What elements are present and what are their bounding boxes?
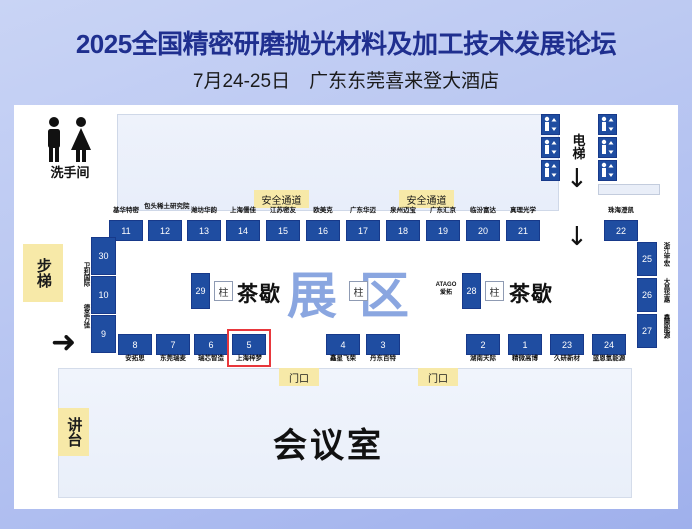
booth-9[interactable]: 9 xyxy=(91,315,116,353)
page-header: 2025全国精密研磨抛光材料及加工技术发展论坛 7月24-25日 广东东莞喜来登… xyxy=(0,0,692,100)
restroom-area: 洗手间 xyxy=(31,114,109,188)
pillar-left: 柱 xyxy=(214,281,233,301)
safety-exit-label: 安全通道 xyxy=(262,192,302,207)
page-title: 2025全国精密研磨抛光材料及加工技术发展论坛 xyxy=(0,24,692,61)
booth-label-2: 湖南天际 xyxy=(462,356,504,363)
booth-8[interactable]: 8 xyxy=(118,334,152,355)
stairs-label: 步梯 xyxy=(35,258,51,288)
booth-label-21: 真理光学 xyxy=(502,208,544,215)
booth-label-3: 丹东百特 xyxy=(362,356,404,363)
booth-label-9: 德圣万佳 xyxy=(80,304,90,328)
booth-30[interactable]: 30 xyxy=(91,237,116,275)
booth-12[interactable]: 12 xyxy=(148,220,182,241)
booth-label-5: 上海梓梦 xyxy=(228,356,270,363)
booth-label-13: 潍坊华韵 xyxy=(183,208,225,215)
booth-1[interactable]: 1 xyxy=(508,334,542,355)
booth-26[interactable]: 26 xyxy=(637,278,657,312)
entrance-label: 门口 xyxy=(428,370,448,385)
booth-15[interactable]: 15 xyxy=(266,220,300,241)
booth-27[interactable]: 27 xyxy=(637,314,657,348)
booth-label-19: 广东汇京 xyxy=(422,208,464,215)
booth-5[interactable]: 5 xyxy=(232,334,266,355)
booth-10[interactable]: 10 xyxy=(91,276,116,314)
break-area-right: 茶歇 xyxy=(509,278,553,308)
booth-13[interactable]: 13 xyxy=(187,220,221,241)
entrance-right: 门口 xyxy=(418,368,458,386)
floor-plan: 洗手间 安全通道 安全通道 电梯 xyxy=(14,105,678,509)
restroom-icon xyxy=(40,116,98,167)
booth-label-18: 泉州迈宝 xyxy=(382,208,424,215)
booth-4[interactable]: 4 xyxy=(326,334,360,355)
atago-brand-cn: 爱拓 xyxy=(440,290,452,296)
booth-24[interactable]: 24 xyxy=(592,334,626,355)
booth-20[interactable]: 20 xyxy=(466,220,500,241)
booth-label-7: 东莞瑞麦 xyxy=(152,356,194,363)
break-area-left: 茶歇 xyxy=(237,278,281,308)
elevator-icon xyxy=(598,137,617,158)
booth-label-24: 蓝恩氢能源 xyxy=(586,356,632,363)
elevator-icon xyxy=(541,114,560,135)
podium-label: 讲台 xyxy=(66,417,82,447)
booth-22[interactable]: 22 xyxy=(604,220,638,241)
booth-label-22: 珠海澄凯 xyxy=(600,208,642,215)
podium-area: 讲台 xyxy=(58,408,89,456)
elevator-arrow-down-icon: ↓ xyxy=(566,166,588,192)
pillar-right: 柱 xyxy=(485,281,504,301)
booth-6[interactable]: 6 xyxy=(194,334,228,355)
booth-7[interactable]: 7 xyxy=(156,334,190,355)
hall-arrow-down-icon: ↓ xyxy=(566,224,588,250)
booth-17[interactable]: 17 xyxy=(346,220,380,241)
elevator-icon xyxy=(598,114,617,135)
booth-label-27: 鑫鼎能源 xyxy=(660,314,670,338)
booth-29[interactable]: 29 xyxy=(191,273,210,309)
elevator-label: 电梯 xyxy=(571,134,587,160)
page-subtitle: 7月24-25日 广东东莞喜来登大酒店 xyxy=(0,66,692,93)
entry-arrow-right-icon: ➜ xyxy=(51,328,76,358)
booth-label-17: 广东华迈 xyxy=(342,208,384,215)
atago-brand-label: ATAGO 爱拓 xyxy=(433,282,459,297)
entrance-left: 门口 xyxy=(279,368,319,386)
elevator-icon xyxy=(541,160,560,181)
safety-exit-right: 安全通道 xyxy=(399,190,454,208)
atago-brand: ATAGO xyxy=(436,282,457,288)
booth-label-23: 久研新材 xyxy=(546,356,588,363)
booth-label-8: 安拓思 xyxy=(114,356,156,363)
booth-label-14: 上海儒佳 xyxy=(222,208,264,215)
elevator-icon xyxy=(541,137,560,158)
booth-label-25: 浙江宇宏 xyxy=(660,242,670,266)
booth-label-12: 包头稀土研究院 xyxy=(144,204,186,211)
upper-hall xyxy=(117,114,559,211)
conference-room-label: 会议室 xyxy=(273,418,384,467)
booth-label-26: 大昌华嘉 xyxy=(660,278,670,302)
screen-bar xyxy=(598,184,660,195)
booth-21[interactable]: 21 xyxy=(506,220,540,241)
booth-18[interactable]: 18 xyxy=(386,220,420,241)
elevator-icon xyxy=(598,160,617,181)
booth-19[interactable]: 19 xyxy=(426,220,460,241)
safety-exit-label: 安全通道 xyxy=(407,192,447,207)
booth-23[interactable]: 23 xyxy=(550,334,584,355)
booth-25[interactable]: 25 xyxy=(637,242,657,276)
pillar-center: 柱 xyxy=(349,281,368,301)
booth-label-10: 卫利国际 xyxy=(80,262,90,286)
booth-3[interactable]: 3 xyxy=(366,334,400,355)
booth-label-1: 精微高博 xyxy=(504,356,546,363)
booth-label-16: 欧美克 xyxy=(302,208,344,215)
booth-label-11: 基华特密 xyxy=(105,208,147,215)
booth-14[interactable]: 14 xyxy=(226,220,260,241)
booth-label-20: 临汾富达 xyxy=(462,208,504,215)
safety-exit-left: 安全通道 xyxy=(254,190,309,208)
booth-label-4: 鑫星飞荣 xyxy=(322,356,364,363)
entrance-label: 门口 xyxy=(289,370,309,385)
booth-2[interactable]: 2 xyxy=(466,334,500,355)
stairs-area: 步梯 xyxy=(23,244,63,302)
booth-28[interactable]: 28 xyxy=(462,273,481,309)
restroom-label: 洗手间 xyxy=(31,162,109,181)
booth-label-6: 瑞芯智造 xyxy=(190,356,232,363)
booth-16[interactable]: 16 xyxy=(306,220,340,241)
booth-label-15: 江苏密友 xyxy=(262,208,304,215)
